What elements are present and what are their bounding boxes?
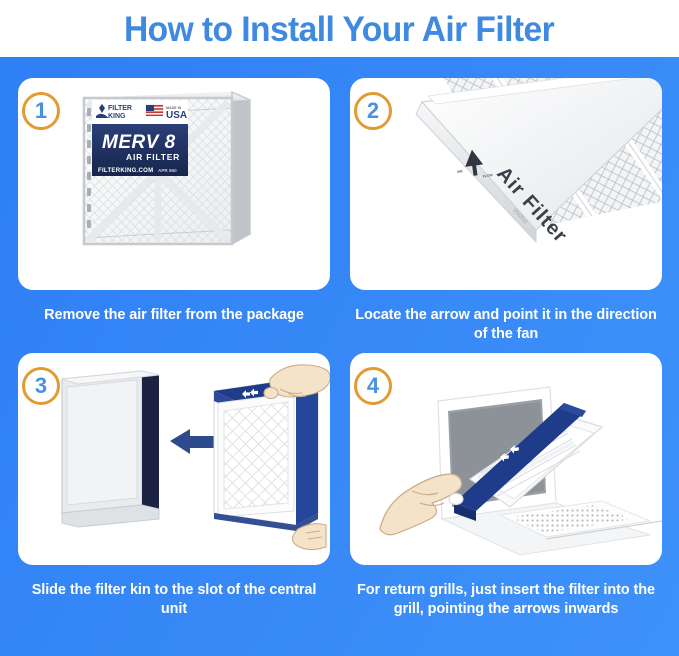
step-2-image-card: AIR FLOW Air Filter 20x20x1: [350, 78, 662, 290]
steps-canvas: FILTER KING MADE IN USA MERV 8: [0, 57, 679, 656]
step-number-badge-4: 4: [354, 367, 392, 405]
step-number-badge-2: 2: [354, 92, 392, 130]
svg-text:KING: KING: [108, 113, 126, 120]
svg-text:AIR: AIR: [457, 169, 464, 174]
poster-header: How to Install Your Air Filter: [0, 0, 679, 57]
step-4-image-card: [350, 353, 662, 565]
svg-text:AIR FILTER: AIR FILTER: [126, 152, 180, 162]
step-3-image-card: [18, 353, 330, 565]
step-card-4: 4 For return grills, just insert the fil…: [350, 353, 662, 653]
svg-text:MERV 8: MERV 8: [102, 132, 176, 153]
svg-text:APR 650: APR 650: [158, 168, 177, 173]
step-card-3: 3 Slide the filter kin to the slot of th…: [18, 353, 330, 653]
step-number-badge-3: 3: [22, 367, 60, 405]
usa-flag-icon: [146, 105, 163, 116]
step-caption-4: For return grills, just insert the filte…: [350, 581, 662, 619]
step-number-3: 3: [35, 375, 47, 397]
infographic-poster: How to Install Your Air Filter: [0, 0, 679, 656]
air-filter-product-illustration: FILTER KING MADE IN USA MERV 8: [18, 78, 330, 290]
slide-filter-into-slot-illustration: [18, 353, 330, 565]
steps-grid: FILTER KING MADE IN USA MERV 8: [0, 57, 679, 656]
svg-text:FILTERKING.COM: FILTERKING.COM: [98, 168, 153, 174]
step-number-1: 1: [35, 100, 47, 122]
page-title: How to Install Your Air Filter: [124, 12, 554, 48]
hand-holding-filter-top: [264, 365, 330, 399]
step-caption-3: Slide the filter kin to the slot of the …: [18, 581, 330, 619]
svg-text:FILTER: FILTER: [108, 105, 132, 112]
svg-text:USA: USA: [166, 110, 187, 121]
step-number-2: 2: [367, 100, 379, 122]
step-number-4: 4: [367, 375, 379, 397]
step-number-badge-1: 1: [22, 92, 60, 130]
step-caption-1: Remove the air filter from the package: [18, 306, 330, 325]
return-grill-insert-illustration: [350, 353, 662, 565]
step-caption-2: Locate the arrow and point it in the dir…: [350, 306, 662, 344]
slide-direction-arrow-icon: [170, 429, 214, 454]
step-1-image-card: FILTER KING MADE IN USA MERV 8: [18, 78, 330, 290]
filter-corner-arrow-illustration: AIR FLOW Air Filter 20x20x1: [350, 78, 662, 290]
